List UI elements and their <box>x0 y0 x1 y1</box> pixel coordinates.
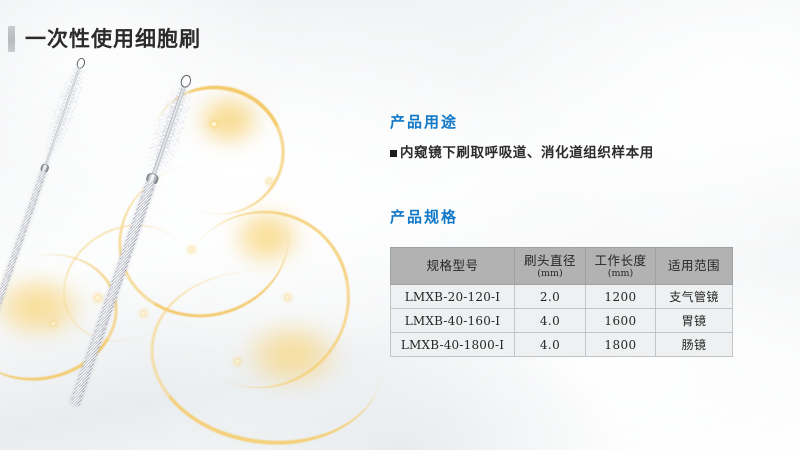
table-row: LMXB-40-160-I 4.0 1600 胃镜 <box>391 309 733 333</box>
usage-heading: 产品用途 <box>390 112 790 132</box>
spec-table-body: LMXB-20-120-I 2.0 1200 支气管镜 LMXB-40-160-… <box>391 285 733 357</box>
brush-thin-core <box>45 67 81 166</box>
sparkle-1 <box>212 122 216 126</box>
usage-item: 内窥镜下刷取呼吸道、消化道组织样本用 <box>390 143 790 163</box>
col-header-model: 规格型号 <box>391 248 515 285</box>
col-header-diameter-label: 刷头直径 <box>524 253 576 268</box>
cell-scope: 支气管镜 <box>656 285 733 309</box>
glow-blob-mid <box>232 208 302 266</box>
cell-scope: 肠镜 <box>656 333 733 357</box>
spec-table-head: 规格型号 刷头直径 (mm) 工作长度 (mm) 适用范围 <box>391 248 733 285</box>
cell-diameter: 2.0 <box>515 285 586 309</box>
sparkle-3 <box>190 248 193 251</box>
spec-heading-wrap: 产品规格 <box>390 207 790 227</box>
sparkle-5 <box>142 312 145 315</box>
header-accent-bar <box>8 26 15 52</box>
swirl-arc-lower <box>141 177 385 422</box>
content-column: 产品用途 内窥镜下刷取呼吸道、消化道组织样本用 产品规格 规格型号 <box>390 112 790 357</box>
col-header-diameter: 刷头直径 (mm) <box>515 248 586 285</box>
spec-heading: 产品规格 <box>390 207 790 227</box>
brush-thin-shaft <box>0 170 47 392</box>
slide-root: 一次性使用细胞刷 <box>0 0 800 450</box>
swirl-arc-bottom-right <box>139 257 394 450</box>
page-title: 一次性使用细胞刷 <box>25 26 201 52</box>
col-header-scope-label: 适用范围 <box>668 258 720 273</box>
cell-diameter: 4.0 <box>515 309 586 333</box>
glow-blob-top <box>196 94 262 146</box>
slide-header: 一次性使用细胞刷 <box>0 22 201 56</box>
cell-length: 1600 <box>586 309 656 333</box>
col-header-diameter-unit: (mm) <box>515 268 585 279</box>
swirl-arc-upper <box>134 68 302 231</box>
cell-scope: 胃镜 <box>656 309 733 333</box>
col-header-scope: 适用范围 <box>656 248 733 285</box>
col-header-model-label: 规格型号 <box>426 258 478 273</box>
product-image <box>0 60 380 410</box>
swirl-arc-faint <box>41 201 211 364</box>
sparkle-7 <box>236 360 239 363</box>
swirl-arc-bottom-left <box>0 235 134 399</box>
spec-table-wrap: 规格型号 刷头直径 (mm) 工作长度 (mm) 适用范围 <box>390 247 790 357</box>
cell-model: LMXB-20-120-I <box>391 285 515 309</box>
sparkle-2 <box>268 180 271 183</box>
table-header-row: 规格型号 刷头直径 (mm) 工作长度 (mm) 适用范围 <box>391 248 733 285</box>
cell-model: LMXB-40-160-I <box>391 309 515 333</box>
cell-length: 1200 <box>586 285 656 309</box>
table-row: LMXB-20-120-I 2.0 1200 支气管镜 <box>391 285 733 309</box>
sparkle-4 <box>96 296 100 300</box>
glow-blob-right <box>244 322 340 388</box>
sparkle-8 <box>52 322 55 325</box>
brush-thick-core <box>152 87 186 177</box>
sparkle-6 <box>286 296 289 299</box>
col-header-length-label: 工作长度 <box>594 253 646 268</box>
brush-thick-shaft <box>70 180 156 406</box>
bullet-square-icon <box>390 150 397 157</box>
cell-diameter: 4.0 <box>515 333 586 357</box>
table-row: LMXB-40-1800-I 4.0 1800 肠镜 <box>391 333 733 357</box>
col-header-length: 工作长度 (mm) <box>586 248 656 285</box>
cell-length: 1800 <box>586 333 656 357</box>
glow-blob-left <box>0 276 84 338</box>
cell-model: LMXB-40-1800-I <box>391 333 515 357</box>
col-header-length-unit: (mm) <box>586 268 655 279</box>
spec-table: 规格型号 刷头直径 (mm) 工作长度 (mm) 适用范围 <box>390 247 733 357</box>
usage-text: 内窥镜下刷取呼吸道、消化道组织样本用 <box>400 143 654 163</box>
